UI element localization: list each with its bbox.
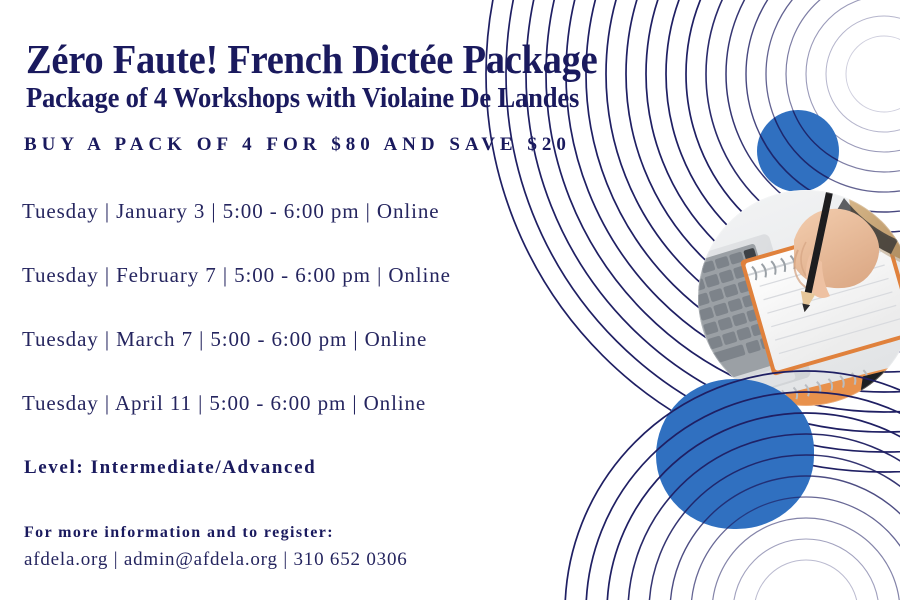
list-item: Tuesday | February 7 | 5:00 - 6:00 pm | … [22,262,672,326]
blue-circle-bottom [656,379,814,529]
list-item: Tuesday | April 11 | 5:00 - 6:00 pm | On… [22,390,672,454]
blue-circle-top [757,110,839,192]
contact-heading: For more information and to register: [24,524,334,542]
page-title: Zéro Faute! French Dictée Package [26,36,597,82]
promo-offer-text: BUY A PACK OF 4 FOR $80 AND SAVE $20 [24,134,571,156]
poster-canvas: Zéro Faute! French Dictée Package Packag… [0,0,900,600]
list-item: Tuesday | March 7 | 5:00 - 6:00 pm | Onl… [22,326,672,390]
contact-details: afdela.org | admin@afdela.org | 310 652 … [24,549,408,571]
hand-writing-notebook-photo [698,190,900,406]
level-label: Level: Intermediate/Advanced [24,457,316,479]
page-subtitle: Package of 4 Workshops with Violaine De … [26,83,579,115]
list-item: Tuesday | January 3 | 5:00 - 6:00 pm | O… [22,198,672,262]
session-list: Tuesday | January 3 | 5:00 - 6:00 pm | O… [22,198,672,454]
